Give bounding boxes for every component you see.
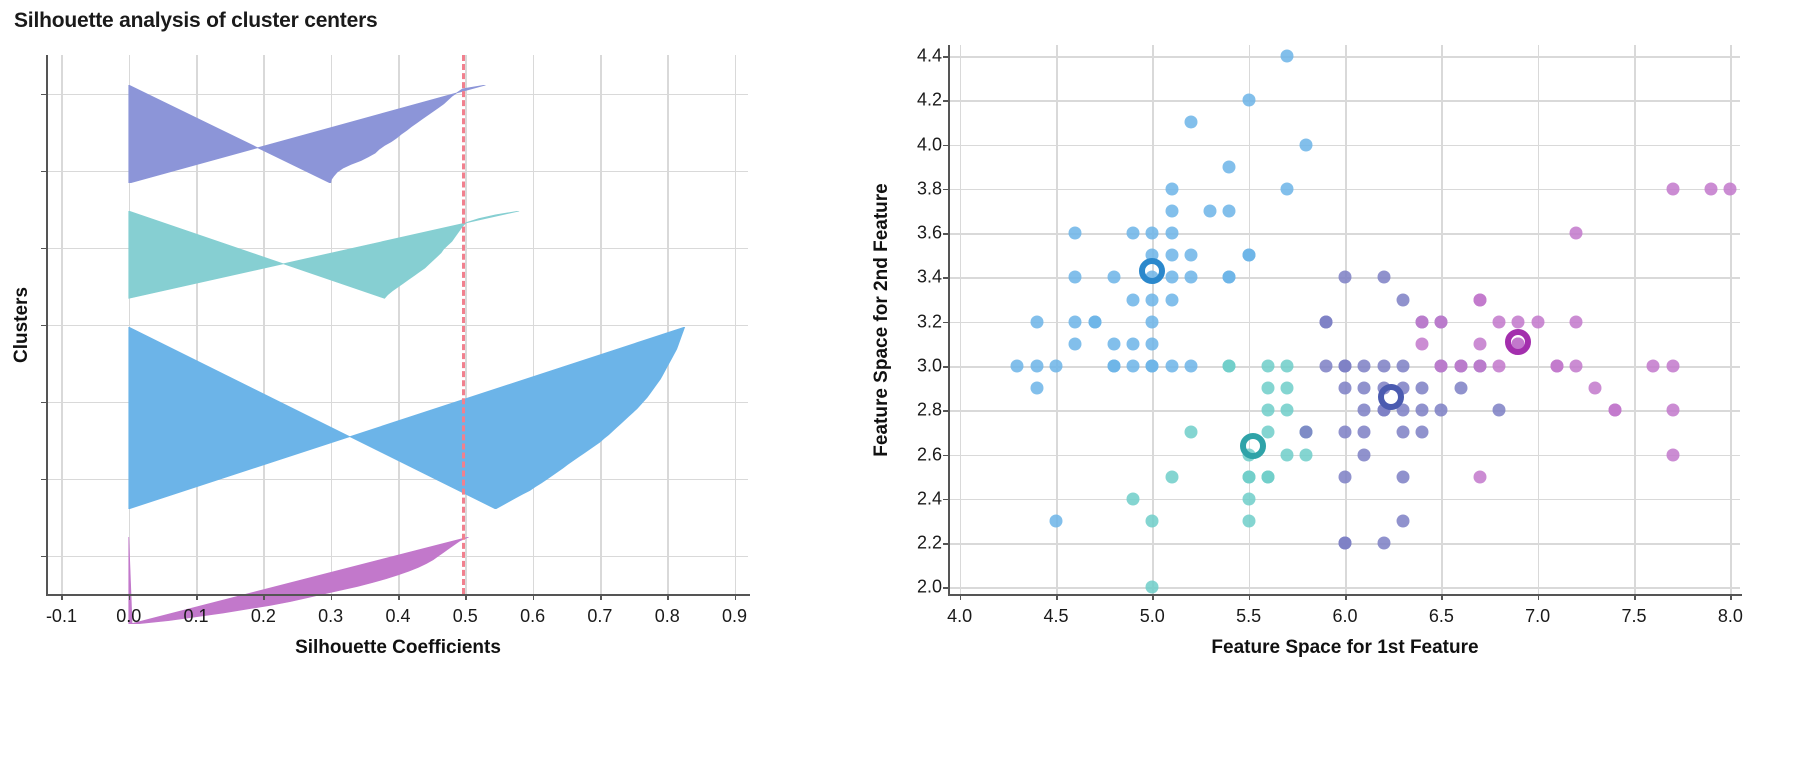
x-tick-label: 7.5: [1622, 606, 1647, 627]
silhouette-panel: -0.10.00.10.20.30.40.50.60.70.80.9Silhou…: [0, 0, 790, 770]
data-point: [1300, 448, 1313, 461]
y-tick-label: 4.2: [900, 90, 942, 111]
data-point: [1319, 359, 1332, 372]
data-point: [1030, 315, 1043, 328]
data-point: [1396, 359, 1409, 372]
data-point: [1242, 249, 1255, 262]
data-point: [1165, 271, 1178, 284]
x-tick-label: 0.2: [251, 606, 276, 627]
x-axis-label: Feature Space for 1st Feature: [1211, 637, 1478, 659]
left-axis-spine: [46, 55, 48, 596]
cluster-centroid-0: [1378, 384, 1404, 410]
data-point: [1396, 470, 1409, 483]
data-point: [1473, 337, 1486, 350]
data-point: [1184, 116, 1197, 129]
y-tick-label: 2.4: [900, 488, 942, 509]
data-point: [1454, 382, 1467, 395]
data-point: [1493, 315, 1506, 328]
x-tick-label: 0.8: [655, 606, 680, 627]
data-point: [1435, 404, 1448, 417]
data-point: [1435, 315, 1448, 328]
data-point: [1377, 537, 1390, 550]
silhouette-band: [48, 211, 748, 298]
data-point: [1724, 182, 1737, 195]
data-point: [1416, 382, 1429, 395]
x-tick-label: 8.0: [1718, 606, 1743, 627]
data-point: [1300, 426, 1313, 439]
silhouette-band: [48, 327, 748, 509]
data-point: [1358, 382, 1371, 395]
y-tick-label: 2.2: [900, 533, 942, 554]
x-tick-label: 5.5: [1236, 606, 1261, 627]
data-point: [1473, 293, 1486, 306]
x-gridline: [1056, 45, 1058, 594]
data-point: [1570, 227, 1583, 240]
data-point: [1358, 359, 1371, 372]
data-point: [1165, 470, 1178, 483]
data-point: [1339, 271, 1352, 284]
silhouette-plot-area: [48, 55, 748, 594]
x-tick-label: 7.0: [1525, 606, 1550, 627]
data-point: [1204, 205, 1217, 218]
data-point: [1107, 359, 1120, 372]
x-tick-label: 0.9: [722, 606, 747, 627]
data-point: [1261, 404, 1274, 417]
data-point: [1608, 404, 1621, 417]
data-point: [1261, 426, 1274, 439]
y-axis-label: Feature Space for 2nd Feature: [871, 183, 893, 456]
data-point: [1069, 227, 1082, 240]
silhouette-band: [48, 85, 748, 183]
y-gridline: [950, 145, 1740, 147]
data-point: [1030, 382, 1043, 395]
x-tick-label: 5.0: [1140, 606, 1165, 627]
data-point: [1416, 404, 1429, 417]
cluster-centroid-2: [1139, 258, 1165, 284]
data-point: [1146, 514, 1159, 527]
data-point: [1127, 293, 1140, 306]
data-point: [1647, 359, 1660, 372]
y-axis-label: Clusters: [11, 286, 33, 362]
data-point: [1184, 271, 1197, 284]
y-tick-label: 2.0: [900, 577, 942, 598]
x-gridline: [1249, 45, 1251, 594]
scatter-plot-area: [950, 45, 1740, 594]
data-point: [1069, 315, 1082, 328]
y-gridline: [950, 455, 1740, 457]
x-axis-label: Silhouette Coefficients: [295, 637, 501, 659]
data-point: [1223, 359, 1236, 372]
y-gridline: [950, 189, 1740, 191]
data-point: [1242, 492, 1255, 505]
data-point: [1165, 249, 1178, 262]
y-gridline: [950, 410, 1740, 412]
data-point: [1339, 359, 1352, 372]
data-point: [1223, 160, 1236, 173]
data-point: [1531, 315, 1544, 328]
x-tick-label: 6.5: [1429, 606, 1454, 627]
data-point: [1261, 382, 1274, 395]
data-point: [1242, 514, 1255, 527]
y-tick-label: 4.4: [900, 46, 942, 67]
data-point: [1377, 271, 1390, 284]
x-tick-label: 0.0: [116, 606, 141, 627]
data-point: [1146, 293, 1159, 306]
data-point: [1589, 382, 1602, 395]
scatter-panel: 4.04.55.05.56.06.57.07.58.02.02.22.42.62…: [860, 0, 1802, 770]
x-tick-label: 0.5: [453, 606, 478, 627]
figure-root: Silhouette analysis of cluster centers -…: [0, 0, 1802, 770]
y-tick-label: 2.6: [900, 444, 942, 465]
data-point: [1069, 337, 1082, 350]
data-point: [1146, 359, 1159, 372]
bottom-axis-spine: [948, 594, 1742, 596]
data-point: [1165, 293, 1178, 306]
data-point: [1358, 448, 1371, 461]
y-gridline: [950, 100, 1740, 102]
data-point: [1416, 315, 1429, 328]
data-point: [1030, 359, 1043, 372]
left-axis-spine: [948, 45, 950, 596]
data-point: [1473, 359, 1486, 372]
data-point: [1261, 359, 1274, 372]
data-point: [1358, 404, 1371, 417]
data-point: [1339, 382, 1352, 395]
data-point: [1473, 470, 1486, 483]
data-point: [1088, 315, 1101, 328]
y-tick-label: 4.0: [900, 134, 942, 155]
data-point: [1011, 359, 1024, 372]
data-point: [1416, 337, 1429, 350]
data-point: [1396, 293, 1409, 306]
x-gridline: [960, 45, 962, 594]
x-gridline: [1634, 45, 1636, 594]
data-point: [1049, 514, 1062, 527]
data-point: [1339, 470, 1352, 483]
data-point: [1281, 359, 1294, 372]
data-point: [1127, 492, 1140, 505]
data-point: [1416, 426, 1429, 439]
y-tick-label: 3.2: [900, 311, 942, 332]
y-gridline: [950, 56, 1740, 58]
data-point: [1493, 404, 1506, 417]
data-point: [1049, 359, 1062, 372]
data-point: [1281, 448, 1294, 461]
x-tick-label: 6.0: [1332, 606, 1357, 627]
data-point: [1223, 271, 1236, 284]
data-point: [1127, 337, 1140, 350]
data-point: [1281, 404, 1294, 417]
data-point: [1165, 205, 1178, 218]
data-point: [1493, 359, 1506, 372]
data-point: [1319, 315, 1332, 328]
y-tick-label: 3.8: [900, 178, 942, 199]
data-point: [1666, 359, 1679, 372]
data-point: [1339, 426, 1352, 439]
data-point: [1666, 404, 1679, 417]
y-tick-label: 2.8: [900, 400, 942, 421]
data-point: [1300, 138, 1313, 151]
y-tick-label: 3.0: [900, 355, 942, 376]
data-point: [1146, 227, 1159, 240]
data-point: [1512, 315, 1525, 328]
y-gridline: [950, 587, 1740, 589]
data-point: [1281, 50, 1294, 63]
data-point: [1396, 426, 1409, 439]
cluster-centroid-3: [1505, 329, 1531, 355]
data-point: [1570, 315, 1583, 328]
data-point: [1396, 514, 1409, 527]
data-point: [1127, 359, 1140, 372]
data-point: [1570, 359, 1583, 372]
average-silhouette-line: [462, 55, 465, 594]
x-tick-label: 0.7: [587, 606, 612, 627]
x-gridline: [1345, 45, 1347, 594]
y-gridline: [950, 499, 1740, 501]
x-tick-label: 4.5: [1043, 606, 1068, 627]
x-tick-label: -0.1: [46, 606, 77, 627]
data-point: [1184, 426, 1197, 439]
data-point: [1165, 359, 1178, 372]
data-point: [1184, 249, 1197, 262]
data-point: [1242, 470, 1255, 483]
data-point: [1666, 182, 1679, 195]
data-point: [1550, 359, 1563, 372]
data-point: [1358, 426, 1371, 439]
data-point: [1146, 337, 1159, 350]
data-point: [1127, 227, 1140, 240]
y-tick-label: 3.6: [900, 223, 942, 244]
data-point: [1666, 448, 1679, 461]
data-point: [1377, 359, 1390, 372]
data-point: [1261, 470, 1274, 483]
data-point: [1146, 581, 1159, 594]
data-point: [1223, 205, 1236, 218]
x-tick-label: 0.6: [520, 606, 545, 627]
data-point: [1281, 182, 1294, 195]
data-point: [1107, 271, 1120, 284]
x-tick-label: 0.1: [184, 606, 209, 627]
data-point: [1454, 359, 1467, 372]
data-point: [1435, 359, 1448, 372]
y-tick-label: 3.4: [900, 267, 942, 288]
data-point: [1184, 359, 1197, 372]
cluster-centroid-1: [1240, 433, 1266, 459]
data-point: [1705, 182, 1718, 195]
data-point: [1146, 315, 1159, 328]
x-tick-label: 0.4: [385, 606, 410, 627]
x-tick-label: 4.0: [947, 606, 972, 627]
bottom-axis-spine: [46, 594, 750, 596]
data-point: [1107, 337, 1120, 350]
x-gridline: [1730, 45, 1732, 594]
data-point: [1165, 227, 1178, 240]
data-point: [1281, 382, 1294, 395]
data-point: [1069, 271, 1082, 284]
data-point: [1165, 182, 1178, 195]
data-point: [1339, 537, 1352, 550]
data-point: [1242, 94, 1255, 107]
x-tick-label: 0.3: [318, 606, 343, 627]
